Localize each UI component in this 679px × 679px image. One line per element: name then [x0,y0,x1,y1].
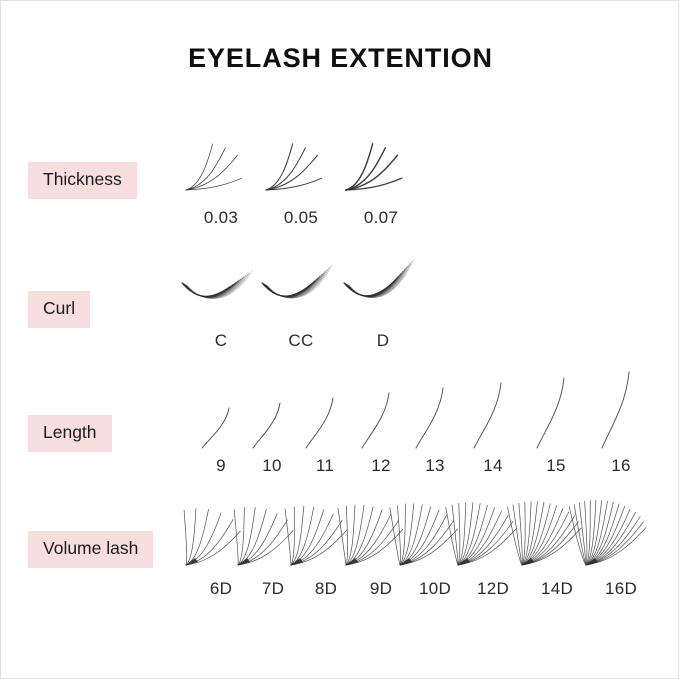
lash-length-16 [598,367,644,451]
value-label-volume-6D: 6D [210,579,232,599]
value-label-length-13: 13 [425,456,445,476]
lash-curl-CC [258,263,344,319]
page-title: EYELASH EXTENTION [1,43,679,74]
value-label-thickness-0-07: 0.07 [364,208,398,228]
lash-length-14 [470,378,516,451]
value-label-volume-8D: 8D [315,579,337,599]
value-label-volume-12D: 12D [477,579,509,599]
lash-length-15 [533,373,579,451]
value-label-length-16: 16 [611,456,631,476]
value-label-volume-16D: 16D [605,579,637,599]
row-label-length: Length [28,415,112,452]
value-label-thickness-0-03: 0.03 [204,208,238,228]
value-label-volume-7D: 7D [262,579,284,599]
value-label-curl-D: D [377,331,390,351]
value-label-length-10: 10 [262,456,282,476]
row-label-curl: Curl [28,291,90,328]
value-label-curl-C: C [215,331,228,351]
lash-thickness-0-07 [338,122,424,196]
lash-length-12 [358,388,404,451]
value-label-curl-CC: CC [288,331,313,351]
value-label-volume-9D: 9D [370,579,392,599]
value-label-length-14: 14 [483,456,503,476]
lash-volume-16D [579,495,663,573]
value-label-length-11: 11 [316,456,334,476]
lash-curl-D [340,263,426,319]
value-label-volume-10D: 10D [419,579,451,599]
lash-thickness-0-05 [258,122,344,196]
value-label-length-12: 12 [371,456,391,476]
row-label-thickness: Thickness [28,162,137,199]
lash-length-10 [249,398,295,451]
value-label-length-15: 15 [546,456,566,476]
value-label-thickness-0-05: 0.05 [284,208,318,228]
value-label-length-9: 9 [216,456,226,476]
lash-length-13 [412,383,458,451]
lash-length-11 [302,393,348,451]
eyelash-extension-chart: EYELASH EXTENTION Thickness0.030.050.07C… [0,0,679,679]
lash-thickness-0-03 [178,122,264,196]
value-label-volume-14D: 14D [541,579,573,599]
lash-curl-C [178,263,264,319]
lash-length-9 [198,403,244,451]
row-label-volume-lash: Volume lash [28,531,153,568]
